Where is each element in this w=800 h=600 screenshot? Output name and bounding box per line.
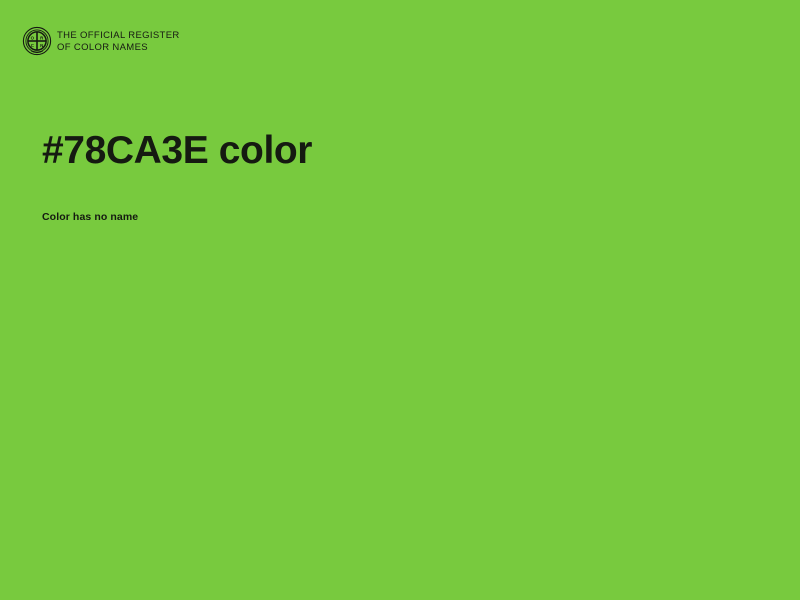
svg-text:O: O bbox=[31, 35, 35, 40]
site-brand-lockup[interactable]: O R C N THE OFFICIAL REGISTER OF COLOR N… bbox=[22, 26, 180, 56]
brand-wordmark-line-1: THE OFFICIAL REGISTER bbox=[57, 30, 180, 42]
color-info-block: #78CA3E color Color has no name bbox=[42, 128, 742, 224]
svg-text:R: R bbox=[40, 35, 44, 40]
brand-wordmark: THE OFFICIAL REGISTER OF COLOR NAMES bbox=[57, 29, 180, 53]
official-register-seal-icon: O R C N bbox=[22, 26, 52, 56]
page-title: #78CA3E color bbox=[42, 128, 742, 174]
svg-text:N: N bbox=[40, 43, 43, 48]
color-name-status: Color has no name bbox=[42, 174, 742, 224]
svg-text:C: C bbox=[31, 43, 35, 48]
color-page: O R C N THE OFFICIAL REGISTER OF COLOR N… bbox=[0, 0, 800, 600]
brand-wordmark-line-2: OF COLOR NAMES bbox=[57, 42, 180, 54]
